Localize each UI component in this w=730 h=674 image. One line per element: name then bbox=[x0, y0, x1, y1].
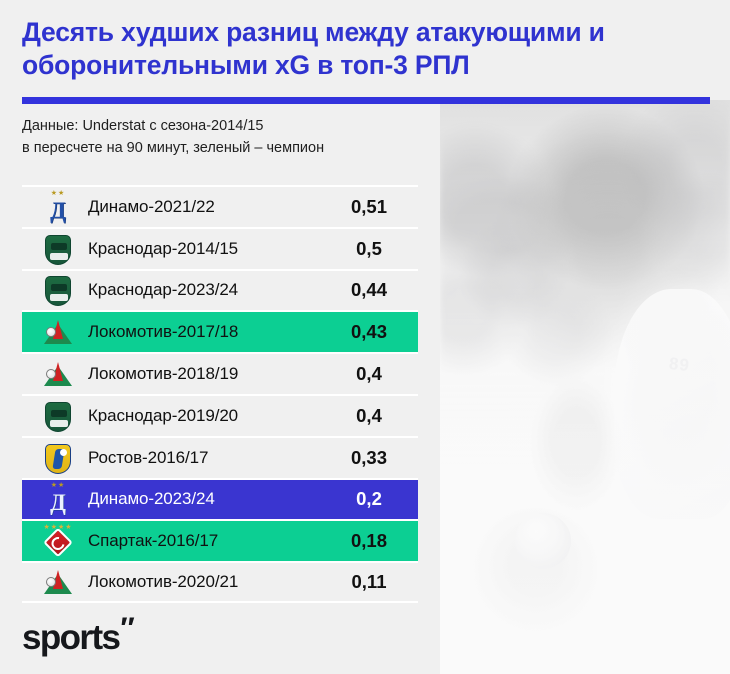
team-label: Локомотив-2017/18 bbox=[88, 322, 324, 342]
spartak-crest: ★★★★ bbox=[36, 524, 80, 558]
lokomotiv-crest bbox=[36, 357, 80, 391]
team-label: Локомотив-2020/21 bbox=[88, 572, 324, 592]
value-label: 0,33 bbox=[324, 447, 418, 469]
source-note: Данные: Understat с сезона-2014/15 в пер… bbox=[22, 115, 422, 159]
lokomotiv-ball-icon bbox=[46, 327, 56, 337]
dynamo-letter-icon: Д bbox=[45, 490, 71, 516]
table-row: Краснодар-2019/20 0,4 bbox=[22, 394, 418, 436]
photo-fade-overlay bbox=[440, 100, 730, 674]
ranking-table: ★★ Д Динамо-2021/22 0,51 Краснодар-2014/… bbox=[22, 185, 418, 603]
table-row-champion: Локомотив-2017/18 0,43 bbox=[22, 310, 418, 352]
source-note-line-1: Данные: Understat с сезона-2014/15 bbox=[22, 115, 422, 137]
table-row-champion: ★★★★ Спартак-2016/17 0,18 bbox=[22, 519, 418, 561]
value-label: 0,5 bbox=[324, 238, 418, 260]
krasnodar-crest bbox=[36, 273, 80, 307]
rostov-shield-icon bbox=[45, 444, 71, 474]
team-label: Краснодар-2014/15 bbox=[88, 239, 324, 259]
value-label: 0,18 bbox=[324, 530, 418, 552]
lokomotiv-ball-icon bbox=[46, 577, 56, 587]
dynamo-crest: ★★ Д bbox=[36, 482, 80, 516]
sports-logo-word: sports bbox=[22, 618, 119, 657]
lokomotiv-crest bbox=[36, 565, 80, 599]
krasnodar-crest bbox=[36, 232, 80, 266]
dynamo-stars-icon: ★★ bbox=[51, 482, 66, 489]
value-label: 0,51 bbox=[324, 196, 418, 218]
sports-logo-tick: ″ bbox=[120, 618, 131, 639]
value-label: 0,4 bbox=[324, 363, 418, 385]
krasnodar-crest bbox=[36, 399, 80, 433]
lokomotiv-crest bbox=[36, 315, 80, 349]
value-label: 0,44 bbox=[324, 279, 418, 301]
dynamo-crest: ★★ Д bbox=[36, 190, 80, 224]
team-label: Краснодар-2019/20 bbox=[88, 406, 324, 426]
krasnodar-shield-icon bbox=[45, 402, 71, 432]
table-row: Краснодар-2023/24 0,44 bbox=[22, 269, 418, 311]
value-label: 0,4 bbox=[324, 405, 418, 427]
source-note-line-2: в пересчете на 90 минут, зеленый – чемпи… bbox=[22, 137, 422, 159]
dynamo-letter-icon: Д bbox=[45, 198, 71, 224]
table-row-highlighted: ★★ Д Динамо-2023/24 0,2 bbox=[22, 478, 418, 520]
team-label: Динамо-2021/22 bbox=[88, 197, 324, 217]
hero-photo: 89 bbox=[440, 100, 730, 674]
team-label: Динамо-2023/24 bbox=[88, 489, 324, 509]
title-divider bbox=[22, 97, 710, 104]
team-label: Спартак-2016/17 bbox=[88, 531, 324, 551]
table-row: Локомотив-2020/21 0,11 bbox=[22, 561, 418, 603]
dynamo-stars-icon: ★★ bbox=[51, 190, 66, 197]
team-label: Локомотив-2018/19 bbox=[88, 364, 324, 384]
page-title: Десять худших разниц между атакующими и … bbox=[22, 16, 712, 82]
table-row: Ростов-2016/17 0,33 bbox=[22, 436, 418, 478]
value-label: 0,2 bbox=[324, 488, 418, 510]
sports-logo: sports″ bbox=[22, 618, 132, 658]
lokomotiv-ball-icon bbox=[46, 369, 56, 379]
table-row: Локомотив-2018/19 0,4 bbox=[22, 352, 418, 394]
value-label: 0,11 bbox=[324, 571, 418, 593]
krasnodar-shield-icon bbox=[45, 276, 71, 306]
table-row: Краснодар-2014/15 0,5 bbox=[22, 227, 418, 269]
value-label: 0,43 bbox=[324, 321, 418, 343]
team-label: Краснодар-2023/24 bbox=[88, 280, 324, 300]
team-label: Ростов-2016/17 bbox=[88, 448, 324, 468]
krasnodar-shield-icon bbox=[45, 235, 71, 265]
table-row: ★★ Д Динамо-2021/22 0,51 bbox=[22, 185, 418, 227]
rostov-crest bbox=[36, 441, 80, 475]
